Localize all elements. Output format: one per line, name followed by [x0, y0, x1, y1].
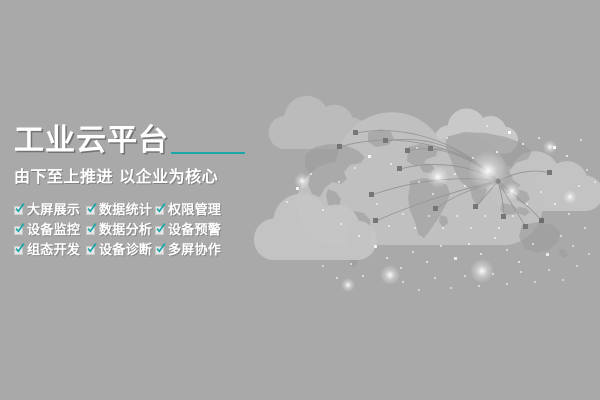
feature-item-2[interactable]: 数据统计	[86, 202, 155, 219]
feature-label: 大屏展示	[27, 202, 80, 219]
check-icon	[86, 205, 97, 216]
industrial-cloud-platform-banner: 工业云平台 由下至上推进 以企业为核心 大屏展示 数据统计	[0, 0, 600, 400]
feature-label: 设备监控	[27, 222, 80, 239]
feature-label: 数据分析	[99, 222, 152, 239]
check-icon	[155, 225, 166, 236]
check-icon	[86, 225, 97, 236]
check-icon	[86, 245, 97, 256]
feature-item-4[interactable]: 设备监控	[14, 222, 86, 239]
page-subtitle: 由下至上推进 以企业为核心	[14, 167, 254, 187]
feature-label: 权限管理	[168, 202, 221, 219]
feature-item-9[interactable]: 多屏协作	[155, 242, 254, 259]
feature-label: 多屏协作	[168, 242, 221, 259]
feature-item-1[interactable]: 大屏展示	[14, 202, 86, 219]
feature-item-3[interactable]: 权限管理	[155, 202, 254, 219]
feature-item-8[interactable]: 设备诊断	[86, 242, 155, 259]
feature-list: 大屏展示 数据统计 权限管理 设备监控	[14, 202, 254, 259]
feature-label: 组态开发	[27, 242, 80, 259]
feature-label: 设备预警	[168, 222, 221, 239]
title-underline-rule	[171, 152, 245, 155]
check-icon	[14, 245, 25, 256]
check-icon	[155, 245, 166, 256]
page-title: 工业云平台	[14, 124, 169, 158]
check-icon	[14, 225, 25, 236]
cloud-world-map-illustration	[250, 85, 600, 305]
feature-label: 设备诊断	[99, 242, 152, 259]
check-icon	[155, 205, 166, 216]
feature-item-5[interactable]: 数据分析	[86, 222, 155, 239]
title-row: 工业云平台	[14, 122, 254, 158]
feature-item-6[interactable]: 设备预警	[155, 222, 254, 239]
feature-label: 数据统计	[99, 202, 152, 219]
feature-item-7[interactable]: 组态开发	[14, 242, 86, 259]
hero-text-block: 工业云平台 由下至上推进 以企业为核心 大屏展示 数据统计	[14, 122, 254, 259]
check-icon	[14, 205, 25, 216]
